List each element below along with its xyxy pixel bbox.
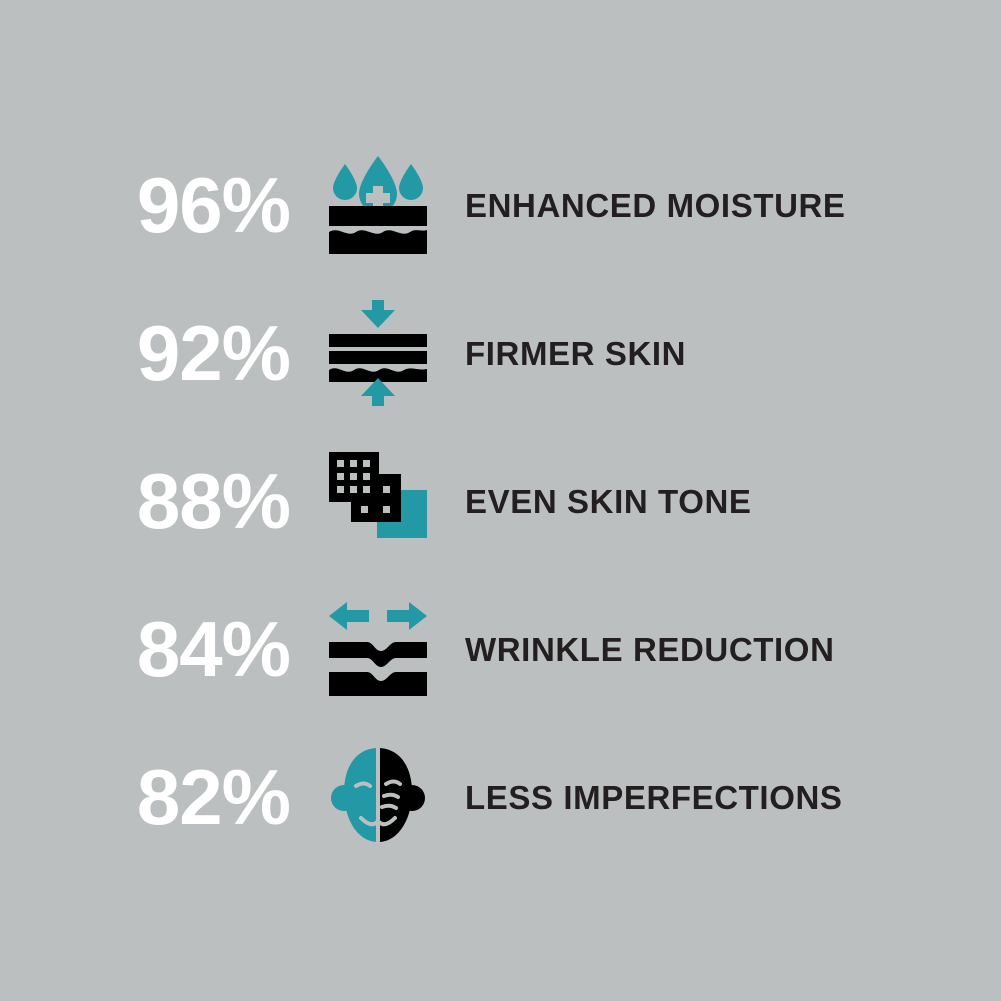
tone-swatch-squares-icon — [290, 446, 465, 556]
arrow-right-icon — [387, 602, 427, 630]
stat-label: ENHANCED MOISTURE — [465, 189, 846, 222]
stat-label: EVEN SKIN TONE — [465, 485, 752, 518]
infographic-canvas: 96% ENHANCED MOISTURE — [0, 0, 1001, 1001]
stats-list: 96% ENHANCED MOISTURE — [0, 131, 1001, 871]
arrow-up-icon — [361, 378, 395, 406]
stat-percent: 96% — [0, 166, 290, 244]
stat-percent: 88% — [0, 462, 290, 540]
stat-row: 96% ENHANCED MOISTURE — [0, 131, 1001, 279]
stat-percent: 84% — [0, 610, 290, 688]
arrow-left-icon — [329, 602, 369, 630]
stat-row: 92% — [0, 279, 1001, 427]
split-face-before-after-icon — [290, 742, 465, 852]
arrow-down-icon — [361, 300, 395, 328]
stat-row: 82% — [0, 723, 1001, 871]
compress-arrows-skin-layers-icon — [290, 298, 465, 408]
stat-percent: 92% — [0, 314, 290, 392]
stat-row: 88% — [0, 427, 1001, 575]
water-drops-skin-layers-icon — [290, 150, 465, 260]
stat-label: WRINKLE REDUCTION — [465, 633, 835, 666]
stretch-arrows-wrinkle-skin-icon — [290, 594, 465, 704]
stat-label: LESS IMPERFECTIONS — [465, 781, 843, 814]
stat-label: FIRMER SKIN — [465, 337, 686, 370]
stat-row: 84% — [0, 575, 1001, 723]
stat-percent: 82% — [0, 758, 290, 836]
